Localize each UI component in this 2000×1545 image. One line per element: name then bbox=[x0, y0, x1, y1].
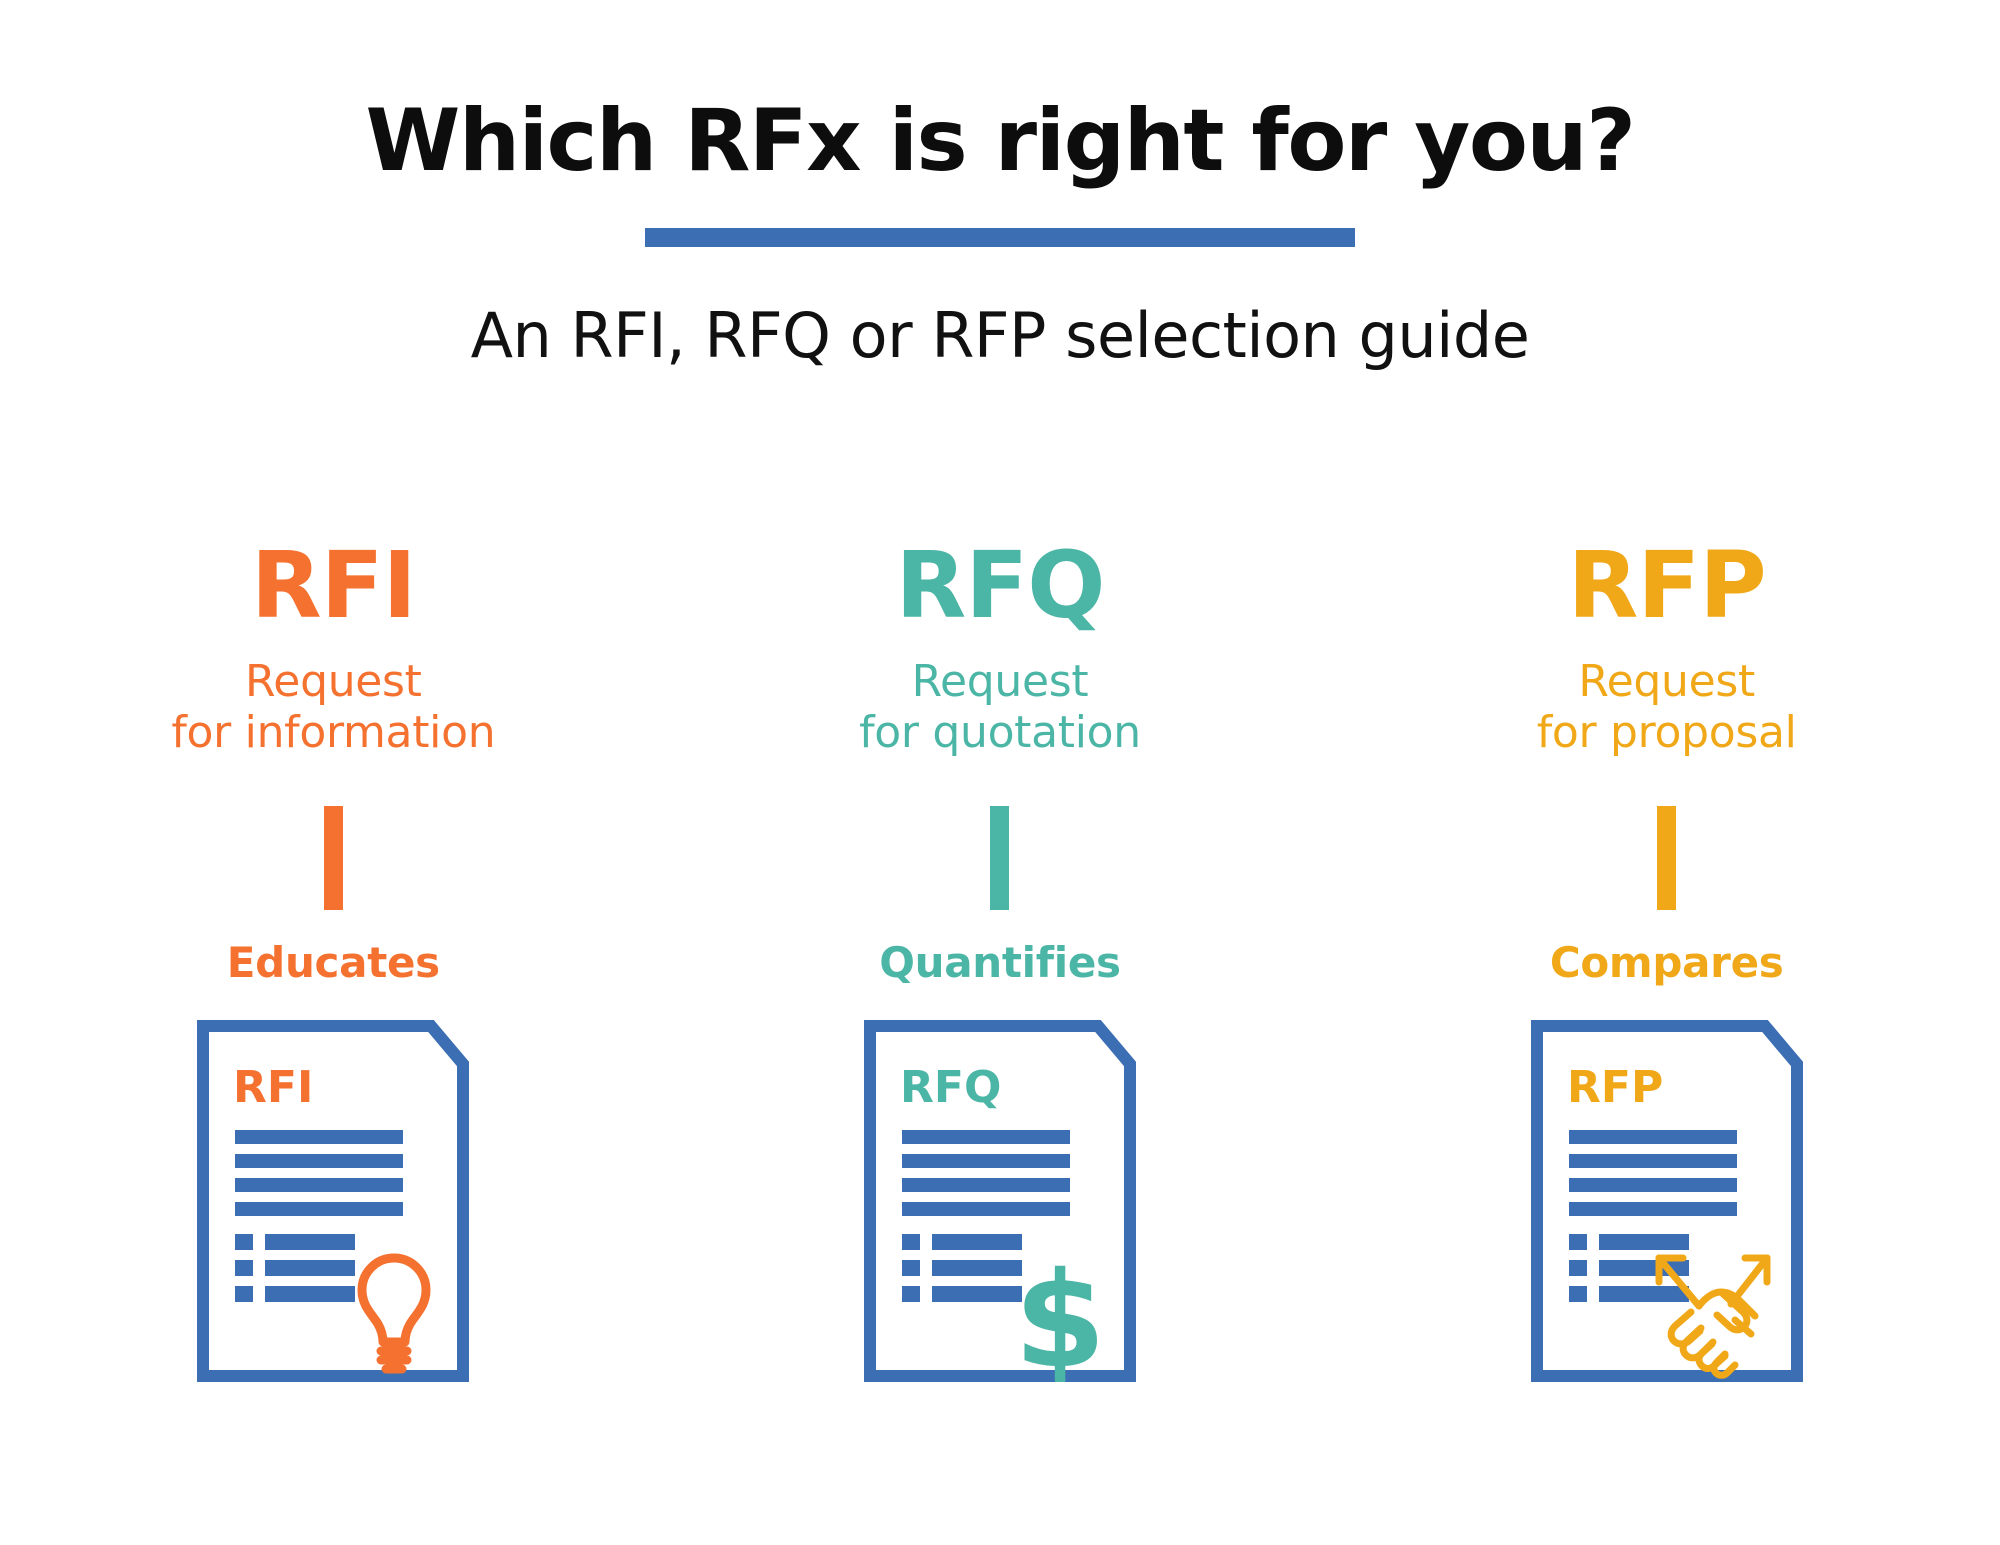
document-icon-rfi: RFI bbox=[197, 1020, 469, 1382]
column-code-rfq: RFQ bbox=[896, 540, 1105, 632]
column-rfi: RFI Request for information Educates RFI bbox=[53, 540, 613, 1382]
dollar-sign-icon: $ bbox=[1014, 1244, 1106, 1382]
column-verb-rfq: Quantifies bbox=[879, 942, 1120, 984]
divider-container bbox=[0, 228, 2000, 252]
document-icon-rfp: RFP bbox=[1531, 1020, 1803, 1382]
document-bullet-lines-rfq bbox=[902, 1234, 1022, 1302]
column-rfq: RFQ Request for quotation Quantifies RFQ bbox=[720, 540, 1280, 1382]
comparison-columns: RFI Request for information Educates RFI bbox=[0, 540, 2000, 1382]
column-expansion-rfi: Request for information bbox=[171, 656, 495, 758]
column-expansion-line2-rfq: for quotation bbox=[859, 707, 1141, 758]
title-divider-rule bbox=[645, 228, 1355, 247]
connector-bar-rfi bbox=[324, 806, 343, 910]
document-label-rfp: RFP bbox=[1567, 1062, 1663, 1113]
column-expansion-line1-rfq: Request bbox=[912, 656, 1089, 707]
column-verb-rfp: Compares bbox=[1550, 942, 1784, 984]
column-rfp: RFP Request for proposal Compares RFP bbox=[1387, 540, 1947, 1382]
column-expansion-line2-rfi: for information bbox=[171, 707, 495, 758]
column-code-rfi: RFI bbox=[251, 540, 416, 632]
column-expansion-line1-rfi: Request bbox=[245, 656, 422, 707]
document-label-rfi: RFI bbox=[233, 1062, 313, 1113]
column-expansion-line1-rfp: Request bbox=[1578, 656, 1755, 707]
document-label-rfq: RFQ bbox=[900, 1062, 1001, 1113]
document-bullet-lines-rfi bbox=[235, 1234, 355, 1302]
document-rfq-svg: RFQ $ bbox=[864, 1020, 1136, 1382]
page-title: Which RFx is right for you? bbox=[0, 0, 2000, 186]
column-expansion-rfp: Request for proposal bbox=[1537, 656, 1797, 758]
page-subtitle: An RFI, RFQ or RFP selection guide bbox=[0, 252, 2000, 370]
connector-bar-rfq bbox=[990, 806, 1009, 910]
infographic-canvas: Which RFx is right for you? An RFI, RFQ … bbox=[0, 0, 2000, 1545]
column-verb-rfi: Educates bbox=[227, 942, 440, 984]
header: Which RFx is right for you? An RFI, RFQ … bbox=[0, 0, 2000, 370]
connector-bar-rfp bbox=[1657, 806, 1676, 910]
column-expansion-line2-rfp: for proposal bbox=[1537, 707, 1797, 758]
document-rfp-svg: RFP bbox=[1531, 1020, 1803, 1382]
document-rfi-svg: RFI bbox=[197, 1020, 469, 1382]
column-code-rfp: RFP bbox=[1568, 540, 1766, 632]
column-expansion-rfq: Request for quotation bbox=[859, 656, 1141, 758]
document-icon-rfq: RFQ $ bbox=[864, 1020, 1136, 1382]
